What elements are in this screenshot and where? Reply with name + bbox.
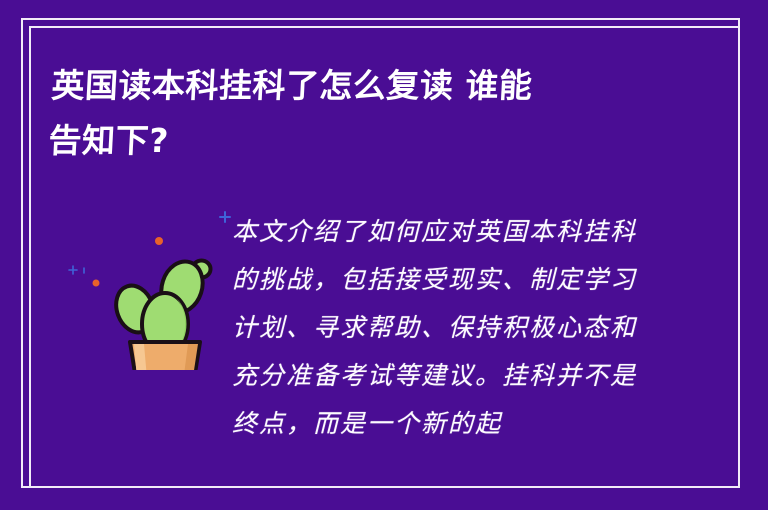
potted-cactus-illustration <box>58 190 238 370</box>
article-summary-text: 本文介绍了如何应对英国本科挂科的挑战，包括接受现实、制定学习计划、寻求帮助、保持… <box>232 208 650 448</box>
sparkle-dot-orange <box>155 237 163 245</box>
page-title: 英国读本科挂科了怎么复读 谁能 告知下? <box>47 58 653 168</box>
sparkle-speck-blue <box>69 266 77 274</box>
article-card: 英国读本科挂科了怎么复读 谁能 告知下? <box>0 0 768 510</box>
sparkle-dot-orange-left <box>93 280 100 287</box>
sparkle-plus-blue <box>220 212 230 222</box>
